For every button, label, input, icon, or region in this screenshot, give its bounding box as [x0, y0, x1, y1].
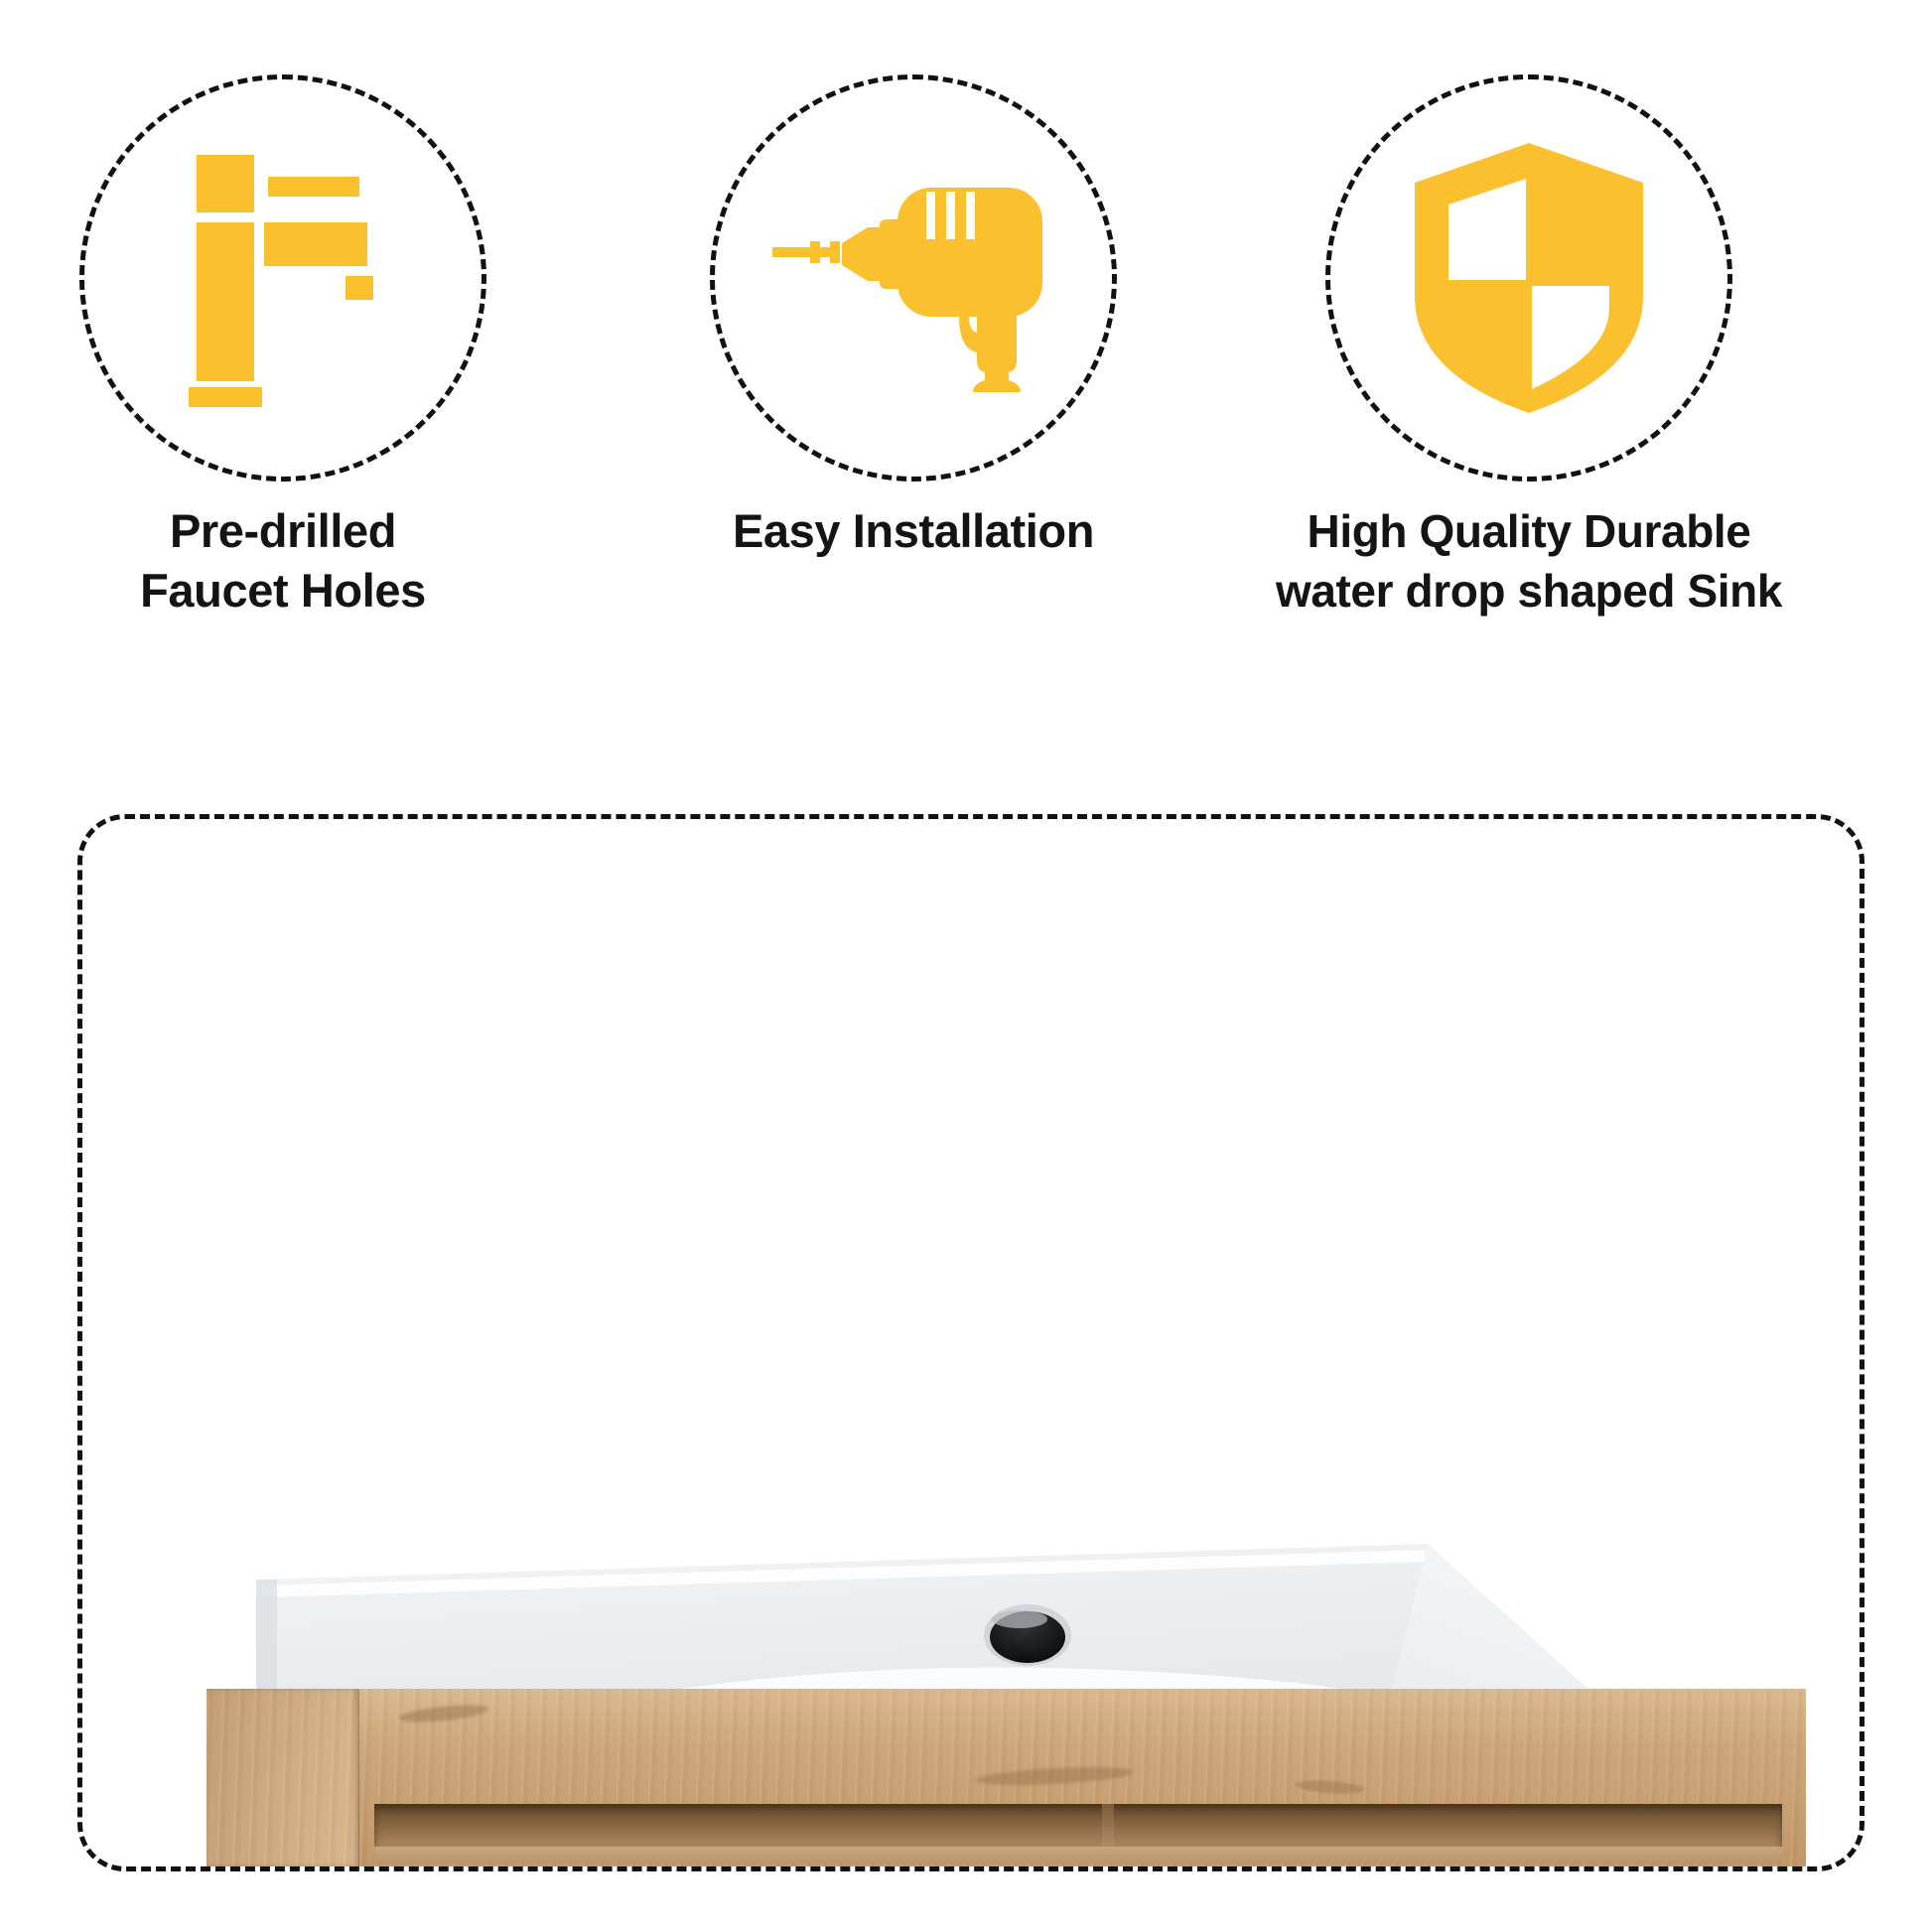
feature-icon-container: [606, 55, 1221, 501]
feature-label-easy-installation: Easy Installation: [606, 501, 1221, 561]
feature-icon-container: [1221, 55, 1837, 501]
groove-lip: [374, 1847, 1782, 1864]
feature-label-line: High Quality Durable: [1181, 501, 1876, 561]
dashed-circle-outline: [79, 74, 486, 482]
feature-label-line: Easy Installation: [606, 501, 1221, 561]
drawer-seam: [358, 1689, 359, 1866]
cabinet-front: [207, 1689, 1806, 1866]
feature-label-high-quality: High Quality Durable water drop shaped S…: [1181, 501, 1876, 621]
feature-icon-container: [0, 55, 591, 501]
feature-label-line: water drop shaped Sink: [1181, 561, 1876, 621]
shield-icon: [1405, 139, 1653, 417]
dashed-circle-outline: [710, 74, 1117, 482]
product-photo: [82, 819, 1860, 1866]
faucet-icon: [169, 149, 397, 407]
feature-item-pre-drilled-faucet-holes: Pre-drilled Faucet Holes: [0, 0, 591, 784]
dashed-circle-outline: [1325, 74, 1732, 482]
feature-item-high-quality-sink: High Quality Durable water drop shaped S…: [1221, 0, 1837, 784]
power-drill-icon: [764, 164, 1062, 392]
feature-label-line: Pre-drilled: [0, 501, 591, 561]
product-photo-panel: [77, 814, 1864, 1871]
feature-label-line: Faucet Holes: [0, 561, 591, 621]
feature-highlights-row: Pre-drilled Faucet Holes: [0, 0, 1932, 784]
feature-label-pre-drilled: Pre-drilled Faucet Holes: [0, 501, 591, 621]
feature-item-easy-installation: Easy Installation: [606, 0, 1221, 784]
